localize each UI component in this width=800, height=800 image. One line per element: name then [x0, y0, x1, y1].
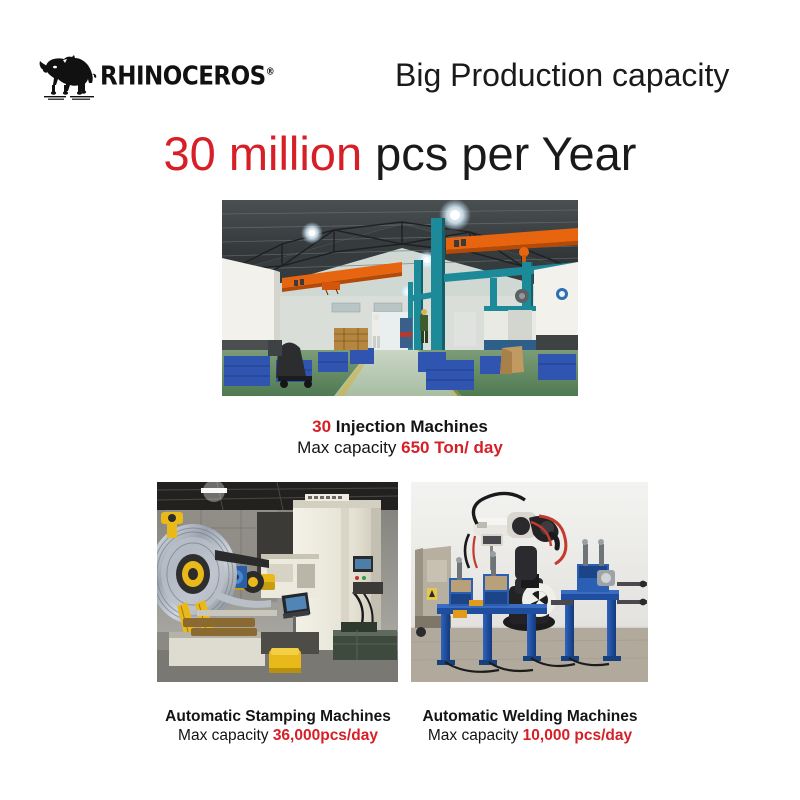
injection-caption-line1: 30 Injection Machines — [200, 417, 600, 438]
trademark-symbol: ® — [266, 67, 275, 78]
injection-caption: 30 Injection Machines Max capacity 650 T… — [200, 417, 600, 458]
stamping-caption: Automatic Stamping Machines Max capacity… — [148, 708, 408, 746]
brand-wordmark-text: RHINOCEROS — [100, 62, 266, 91]
rhinoceros-logo-icon — [38, 52, 100, 100]
stamping-capacity-value: 36,000pcs/day — [273, 727, 378, 744]
page-title: Big Production capacity — [395, 57, 729, 94]
stamping-capacity-label: Max capacity — [178, 727, 273, 744]
headline-rest: pcs per Year — [362, 127, 636, 180]
welding-capacity-label: Max capacity — [428, 727, 523, 744]
factory-interior-photo — [222, 200, 578, 396]
welding-capacity-value: 10,000 pcs/day — [523, 727, 632, 744]
stamping-caption-line2: Max capacity 36,000pcs/day — [148, 727, 408, 746]
stamping-caption-line1: Automatic Stamping Machines — [148, 708, 408, 727]
headline: 30 million pcs per Year — [0, 126, 800, 181]
stamping-machine-photo — [157, 482, 398, 682]
injection-count: 30 — [312, 417, 331, 436]
injection-label: Injection Machines — [331, 417, 488, 436]
welding-robot-photo — [411, 482, 648, 682]
welding-caption: Automatic Welding Machines Max capacity … — [400, 708, 660, 746]
injection-capacity-value: 650 Ton/ day — [401, 438, 503, 457]
page-header: RHINOCEROS® Big Production capacity — [0, 0, 800, 118]
injection-caption-line2: Max capacity 650 Ton/ day — [200, 438, 600, 459]
headline-highlight: 30 million — [164, 127, 363, 180]
welding-caption-line1: Automatic Welding Machines — [400, 708, 660, 727]
brand-wordmark: RHINOCEROS® — [100, 62, 274, 91]
brand-logo: RHINOCEROS® — [38, 52, 248, 104]
welding-caption-line2: Max capacity 10,000 pcs/day — [400, 727, 660, 746]
injection-capacity-label: Max capacity — [297, 438, 401, 457]
